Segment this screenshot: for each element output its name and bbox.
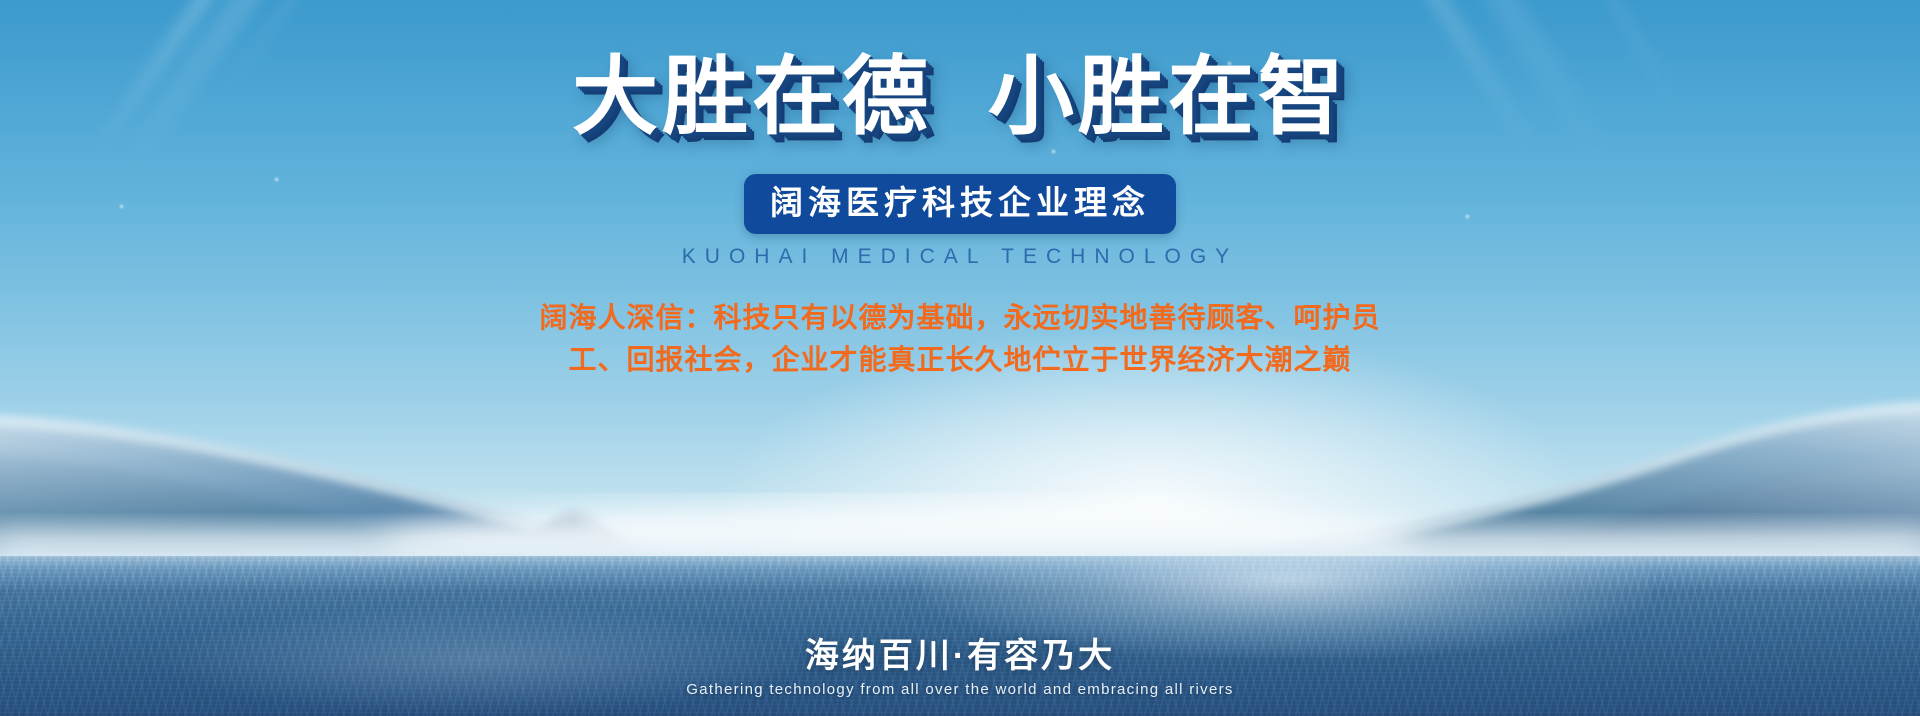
philosophy-statement: 阔海人深信：科技只有以德为基础，永远切实地善待顾客、呵护员 工、回报社会，企业才…	[530, 297, 1390, 382]
philosophy-statement-line-2: 工、回报社会，企业才能真正长久地伫立于世界经济大潮之巅	[530, 339, 1390, 382]
philosophy-statement-line-1: 阔海人深信：科技只有以德为基础，永远切实地善待顾客、呵护员	[530, 297, 1390, 340]
company-philosophy-banner: 大胜在德 小胜在智 阔海医疗科技企业理念 KUOHAI MEDICAL TECH…	[0, 0, 1920, 716]
banner-footer: 海纳百川·有容乃大 Gathering technology from all …	[0, 635, 1920, 699]
footer-motto-cn: 海纳百川·有容乃大	[0, 635, 1920, 678]
footer-motto-en: Gathering technology from all over the w…	[0, 681, 1920, 698]
english-subtitle: KUOHAI MEDICAL TECHNOLOGY	[682, 245, 1238, 269]
banner-content: 大胜在德 小胜在智 阔海医疗科技企业理念 KUOHAI MEDICAL TECH…	[0, 0, 1920, 716]
page-title: 大胜在德 小胜在智	[572, 52, 1348, 142]
philosophy-badge-label: 阔海医疗科技企业理念	[770, 183, 1150, 223]
philosophy-badge: 阔海医疗科技企业理念	[744, 174, 1176, 234]
